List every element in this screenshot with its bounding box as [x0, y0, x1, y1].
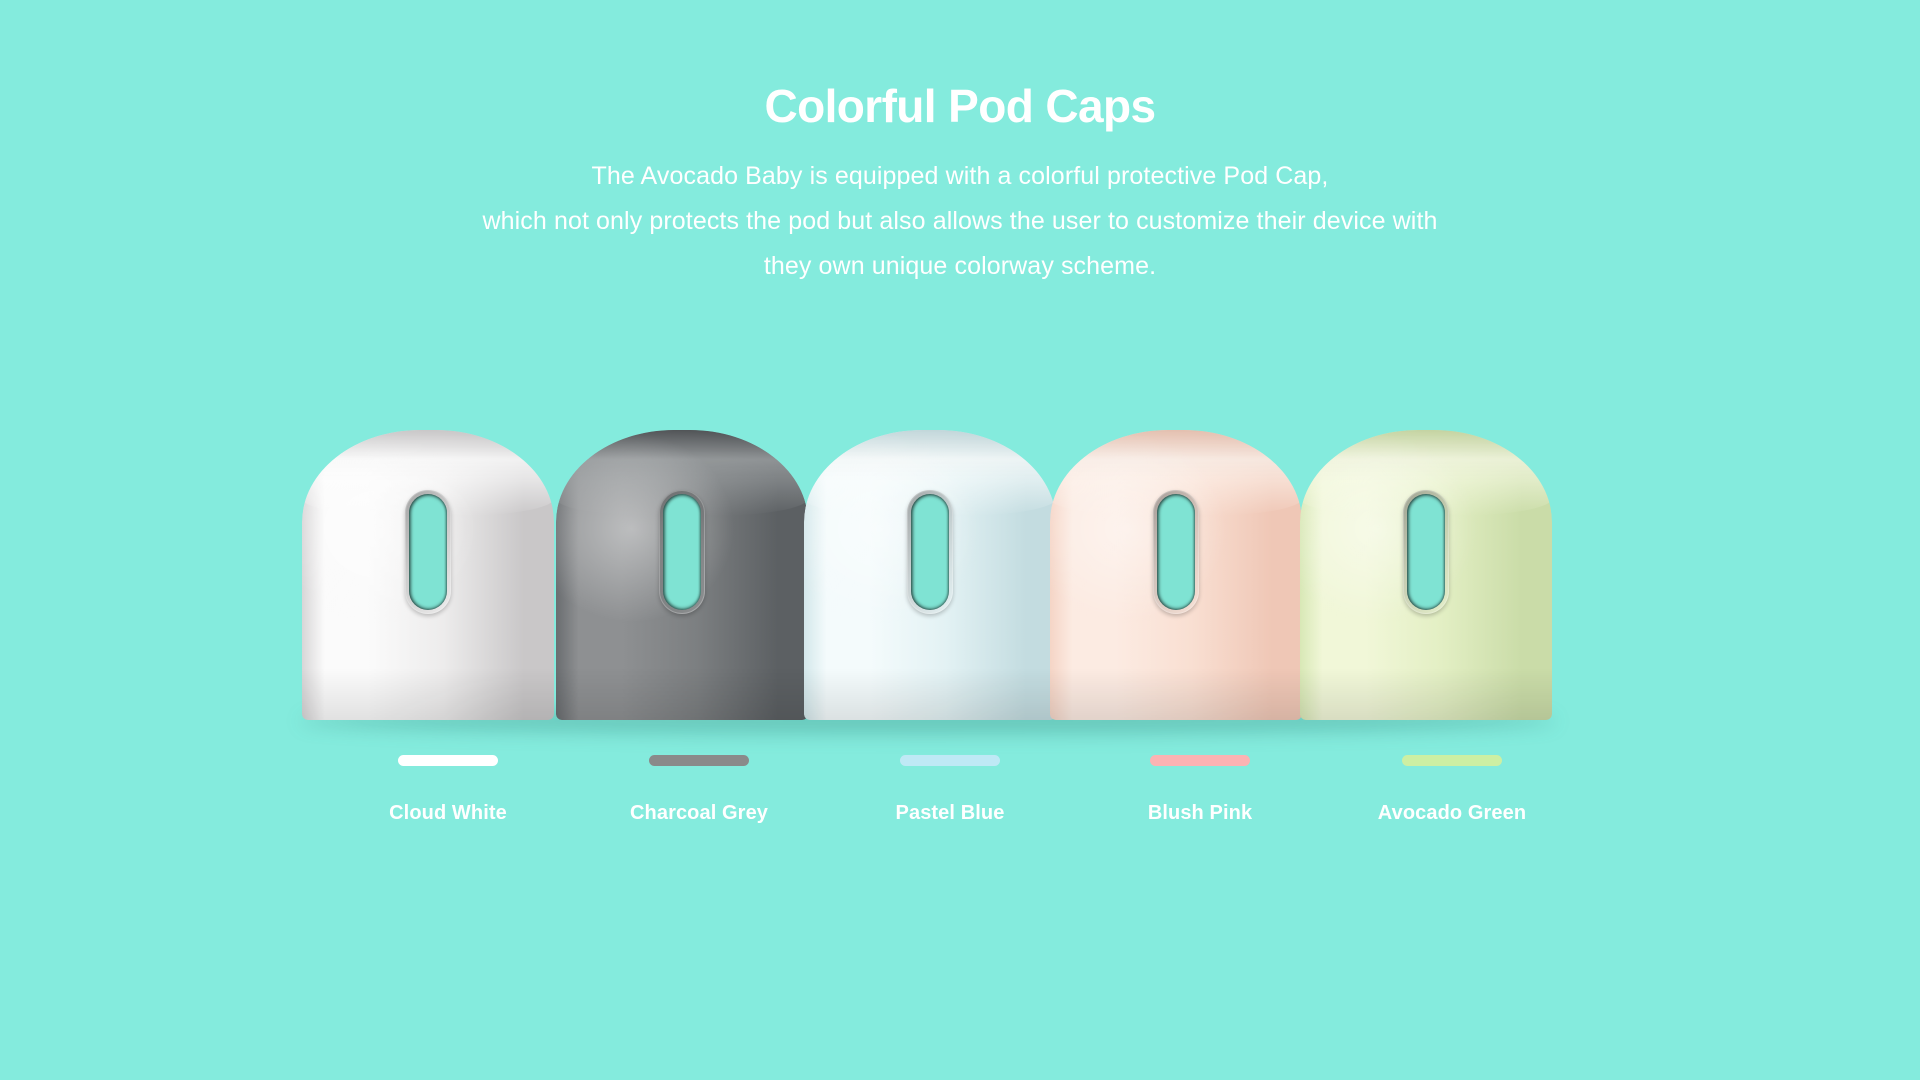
- pod-cap-cloud-white[interactable]: [302, 430, 554, 720]
- color-swatch[interactable]: [649, 755, 749, 766]
- pod-cap-blush-pink[interactable]: [1050, 430, 1302, 720]
- page-header: Colorful Pod Caps The Avocado Baby is eq…: [0, 0, 1920, 289]
- subtitle-line-3: they own unique colorway scheme.: [0, 244, 1920, 289]
- legend-item[interactable]: Avocado Green: [1322, 755, 1582, 825]
- pod-cap-pastel-blue[interactable]: [804, 430, 1056, 720]
- pod-cap-window: [659, 490, 705, 614]
- pod-cap-avocado-green[interactable]: [1300, 430, 1552, 720]
- color-swatch[interactable]: [398, 755, 498, 766]
- pod-cap-window-inner: [663, 494, 701, 610]
- page-subtitle: The Avocado Baby is equipped with a colo…: [0, 154, 1920, 289]
- pod-cap-window: [1153, 490, 1199, 614]
- legend-item[interactable]: Blush Pink: [1070, 755, 1330, 825]
- colorway-legend: Cloud WhiteCharcoal GreyPastel BlueBlush…: [0, 755, 1920, 875]
- color-swatch[interactable]: [1402, 755, 1502, 766]
- legend-item[interactable]: Charcoal Grey: [569, 755, 829, 825]
- color-swatch[interactable]: [1150, 755, 1250, 766]
- subtitle-line-2: which not only protects the pod but also…: [0, 199, 1920, 244]
- pod-cap-window-inner: [1407, 494, 1445, 610]
- pod-cap-window-inner: [911, 494, 949, 610]
- page-title: Colorful Pod Caps: [0, 82, 1920, 130]
- legend-item[interactable]: Pastel Blue: [820, 755, 1080, 825]
- color-name-label: Avocado Green: [1322, 802, 1582, 825]
- pod-cap-window: [1403, 490, 1449, 614]
- color-name-label: Blush Pink: [1070, 802, 1330, 825]
- color-name-label: Cloud White: [318, 802, 578, 825]
- color-swatch[interactable]: [900, 755, 1000, 766]
- pod-cap-window: [907, 490, 953, 614]
- color-name-label: Charcoal Grey: [569, 802, 829, 825]
- pod-cap-showcase: [0, 420, 1920, 740]
- pod-cap-window-inner: [409, 494, 447, 610]
- pod-cap-window-inner: [1157, 494, 1195, 610]
- pod-cap-charcoal-grey[interactable]: [556, 430, 808, 720]
- legend-item[interactable]: Cloud White: [318, 755, 578, 825]
- color-name-label: Pastel Blue: [820, 802, 1080, 825]
- subtitle-line-1: The Avocado Baby is equipped with a colo…: [0, 154, 1920, 199]
- pod-cap-window: [405, 490, 451, 614]
